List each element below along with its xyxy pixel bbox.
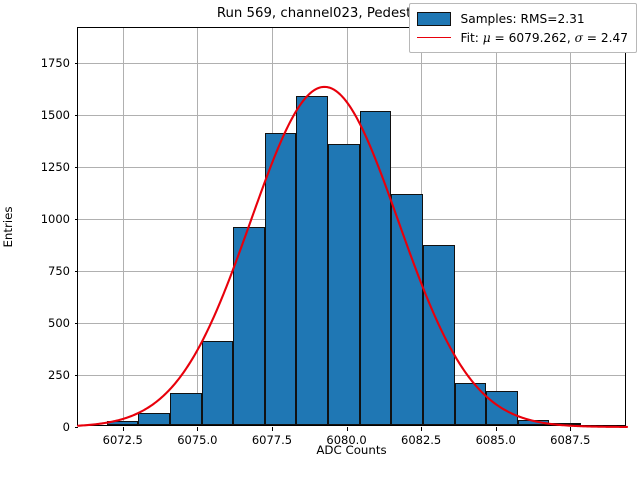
y-tick-label: 1750	[41, 56, 70, 70]
y-tick-label: 1500	[41, 108, 70, 122]
x-tick-mark	[496, 427, 497, 431]
legend-label-fit: Fit: μ = 6079.262, σ = 2.47	[460, 31, 628, 45]
y-tick-label: 250	[48, 368, 70, 382]
legend-label-samples: Samples: RMS=2.31	[460, 12, 584, 26]
legend-line-icon	[417, 31, 451, 45]
x-tick-mark	[197, 427, 198, 431]
legend-fit-sigma: 2.47	[601, 31, 628, 45]
y-tick-mark	[75, 375, 79, 376]
x-tick-mark	[421, 427, 422, 431]
y-tick-mark	[75, 271, 79, 272]
y-tick-mark	[75, 167, 79, 168]
y-axis-label: Entries	[1, 206, 15, 247]
y-tick-mark	[75, 427, 79, 428]
y-tick-label: 500	[48, 316, 70, 330]
y-tick-label: 1000	[41, 212, 70, 226]
y-tick-mark	[75, 219, 79, 220]
figure: Run 569, channel023, Pedestal 6072.56075…	[0, 0, 640, 480]
x-tick-mark	[570, 427, 571, 431]
legend-fit-mu: 6079.262	[509, 31, 567, 45]
legend-item-fit: Fit: μ = 6079.262, σ = 2.47	[417, 28, 628, 47]
y-tick-label: 1250	[41, 160, 70, 174]
legend-fit-prefix: Fit:	[460, 31, 482, 45]
legend-item-samples: Samples: RMS=2.31	[417, 9, 628, 28]
x-tick-mark	[123, 427, 124, 431]
x-tick-mark	[347, 427, 348, 431]
y-tick-label: 0	[63, 420, 70, 434]
x-axis-label: ADC Counts	[77, 443, 626, 457]
y-tick-mark	[75, 63, 79, 64]
y-tick-label: 750	[48, 264, 70, 278]
plot-area: 6072.56075.06077.56080.06082.56085.06087…	[77, 27, 626, 426]
legend: Samples: RMS=2.31 Fit: μ = 6079.262, σ =…	[409, 3, 637, 53]
legend-swatch-icon	[417, 12, 451, 26]
y-tick-mark	[75, 115, 79, 116]
y-tick-mark	[75, 323, 79, 324]
x-tick-mark	[272, 427, 273, 431]
gaussian-fit-curve	[78, 28, 627, 427]
